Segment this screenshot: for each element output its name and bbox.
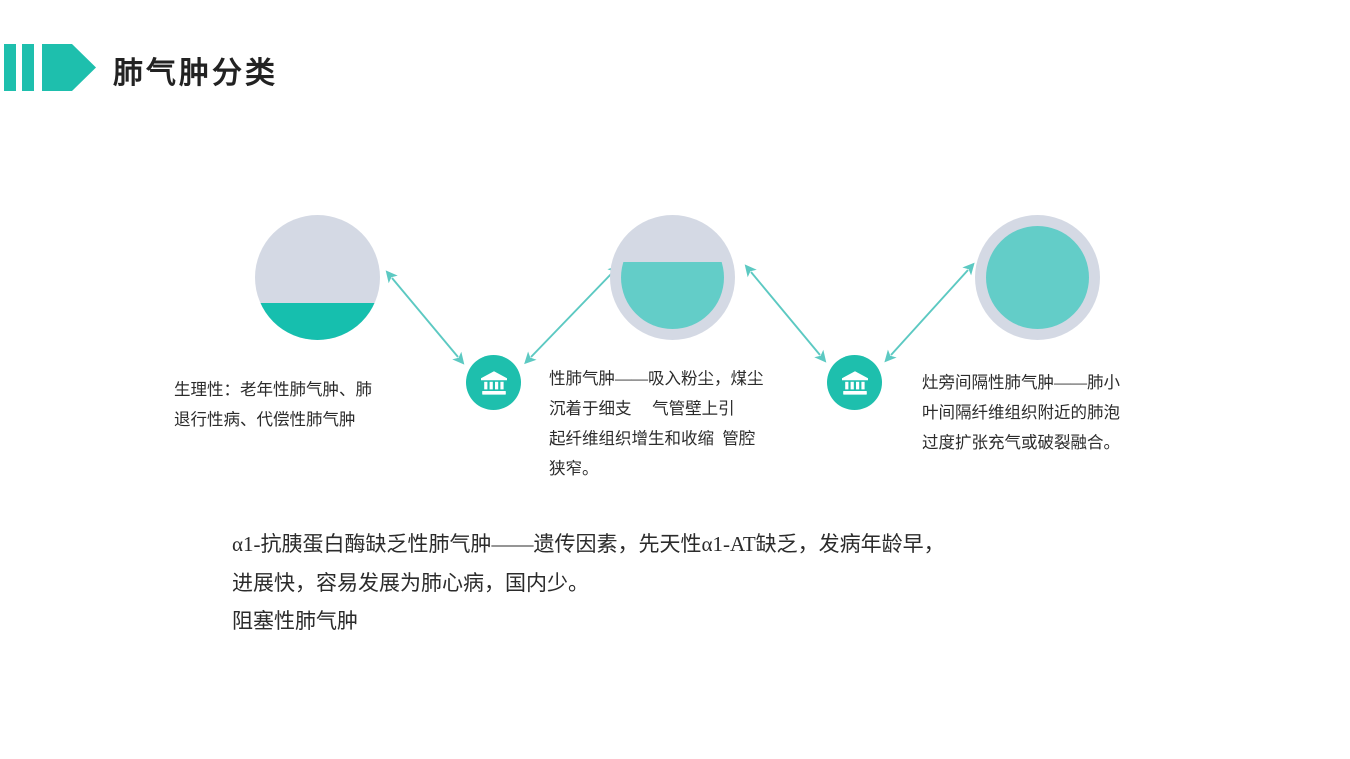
description-block-1: 生理性：老年性肺气肿、肺 退行性病、代偿性肺气肿: [174, 375, 414, 435]
description-block-3: 灶旁间隔性肺气肿——肺小 叶间隔纤维组织附近的肺泡 过度扩张充气或破裂融合。: [922, 368, 1194, 458]
concept-circle-3: [975, 215, 1100, 340]
icon-badge-1[interactable]: [466, 355, 521, 410]
summary-paragraph-line-3: 阻塞性肺气肿: [232, 602, 1192, 641]
bank-icon: [480, 370, 508, 396]
description-block-3-line-1: 灶旁间隔性肺气肿——肺小: [922, 368, 1194, 398]
concept-circle-3-inner: [986, 226, 1089, 329]
connector-4: [891, 270, 968, 355]
description-block-2-line-2: 沉着于细支 气管壁上引: [549, 394, 804, 424]
page-title: 肺气肿分类: [113, 48, 278, 92]
connector-1: [392, 278, 458, 357]
bank-icon: [841, 370, 869, 396]
concept-circle-2-inner: [621, 226, 724, 329]
description-block-2-line-4: 狭窄。: [549, 454, 804, 484]
description-block-1-line-1: 生理性：老年性肺气肿、肺: [174, 375, 414, 405]
concept-circle-2-fill: [621, 262, 724, 329]
slide-root: 肺气肿分类: [0, 0, 1350, 759]
concept-circle-1-fill: [255, 303, 380, 341]
concept-circle-3-fill: [986, 226, 1089, 329]
concept-circle-1: [255, 215, 380, 340]
summary-paragraph: α1-抗胰蛋白酶缺乏性肺气肿——遗传因素，先天性α1-AT缺乏，发病年龄早， 进…: [232, 525, 1192, 641]
icon-badge-2[interactable]: [827, 355, 882, 410]
connector-3: [751, 272, 820, 355]
concept-circle-1-inner: [255, 215, 380, 340]
description-block-2-line-3: 起纤维组织增生和收缩 管腔: [549, 424, 804, 454]
summary-paragraph-line-1: α1-抗胰蛋白酶缺乏性肺气肿——遗传因素，先天性α1-AT缺乏，发病年龄早，: [232, 525, 1192, 564]
connector-2: [531, 272, 613, 357]
description-block-1-line-2: 退行性病、代偿性肺气肿: [174, 405, 414, 435]
summary-paragraph-line-2: 进展快，容易发展为肺心病，国内少。: [232, 564, 1192, 603]
description-block-3-line-2: 叶间隔纤维组织附近的肺泡: [922, 398, 1194, 428]
description-block-3-line-3: 过度扩张充气或破裂融合。: [922, 428, 1194, 458]
concept-circle-2: [610, 215, 735, 340]
title-decoration-icon: [4, 44, 96, 91]
description-block-2-line-1: 性肺气肿——吸入粉尘，煤尘: [549, 364, 804, 394]
description-block-2: 性肺气肿——吸入粉尘，煤尘 沉着于细支 气管壁上引 起纤维组织增生和收缩 管腔 …: [549, 364, 804, 484]
